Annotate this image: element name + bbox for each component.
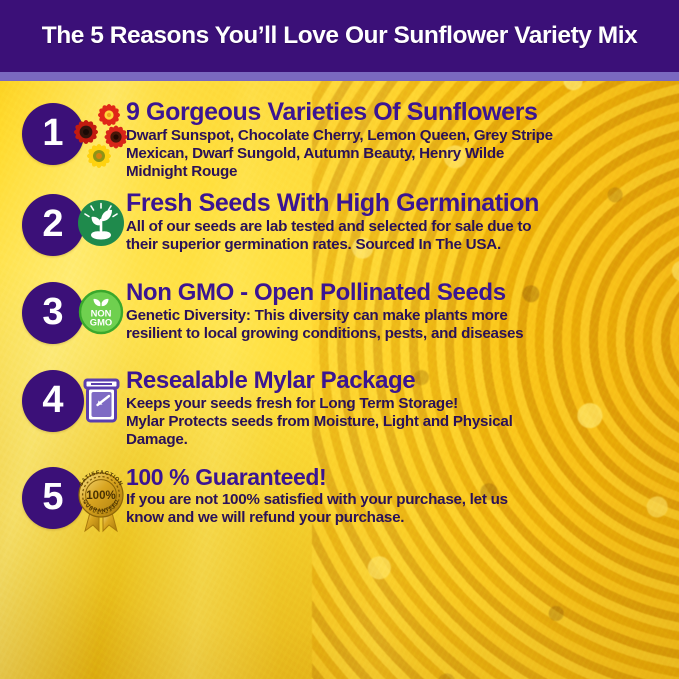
reason-3-badge-group: 3 NON GMO [14,276,126,354]
reason-1-text: 9 Gorgeous Varieties Of Sunflowers Dwarf… [126,97,669,181]
reason-3-body: Genetic Diversity: This diversity can ma… [126,307,669,343]
reason-3-heading: Non GMO - Open Pollinated Seeds [126,280,669,305]
reason-1-body: Dwarf Sunspot, Chocolate Cherry, Lemon Q… [126,127,669,182]
header-accent-stripe [0,72,679,81]
reason-5-body: If you are not 100% satisfied with your … [126,491,669,527]
reason-5-text: 100 % Guaranteed! If you are not 100% sa… [126,461,669,527]
page-title: The 5 Reasons You’ll Love Our Sunflower … [42,22,638,50]
reason-4-badge-group: 4 [14,364,126,442]
reason-2-heading: Fresh Seeds With High Germination [126,190,669,217]
reason-4-body-line-1: Keeps your seeds fresh for Long Term Sto… [126,395,669,413]
reason-4-heading: Resealable Mylar Package [126,368,669,393]
reason-4-text: Resealable Mylar Package Keeps your seed… [126,364,669,449]
reason-item-2: 2 [14,188,669,266]
reason-4-body-line-3: Damage. [126,431,669,449]
reason-2-number: 2 [42,205,63,243]
header-bar: The 5 Reasons You’ll Love Our Sunflower … [0,0,679,72]
reason-1-badge-group: 1 [14,97,126,175]
sunflower-cluster-icon [69,99,135,171]
reason-1-heading: 9 Gorgeous Varieties Of Sunflowers [126,99,669,126]
reason-5-number: 5 [42,478,63,516]
mylar-pouch-icon [69,366,135,438]
reason-1-body-line-1: Dwarf Sunspot, Chocolate Cherry, Lemon Q… [126,127,669,145]
reason-3-number: 3 [42,293,63,331]
reason-2-body-line-1: All of our seeds are lab tested and sele… [126,218,669,236]
reason-4-number: 4 [42,381,63,419]
reason-5-heading: 100 % Guaranteed! [126,465,669,489]
reason-5-badge-group: 5 [14,461,126,539]
non-gmo-badge-icon: NON GMO [69,278,135,350]
reason-1-body-line-3: Midnight Rouge [126,163,669,181]
reason-item-4: 4 Resealable Mylar Package Keeps [14,364,669,449]
non-gmo-text-bottom: GMO [90,317,112,328]
reason-4-body-line-2: Mylar Protects seeds from Moisture, Ligh… [126,413,669,431]
satisfaction-guarantee-seal-icon: SATISFACTION GUARANTEED 100% [69,463,135,535]
reason-item-1: 1 [14,97,669,181]
reasons-list: 1 [0,81,679,679]
reason-1-body-line-2: Mexican, Dwarf Sungold, Autumn Beauty, H… [126,145,669,163]
seal-text-center: 100% [86,490,115,502]
reason-2-body: All of our seeds are lab tested and sele… [126,218,669,254]
reason-2-body-line-2: their superior germination rates. Source… [126,236,669,254]
reason-1-number: 1 [42,114,63,152]
reason-2-text: Fresh Seeds With High Germination All of… [126,188,669,254]
reason-3-body-line-2: resilient to local growing conditions, p… [126,325,669,343]
reason-3-body-line-1: Genetic Diversity: This diversity can ma… [126,307,669,325]
reason-3-text: Non GMO - Open Pollinated Seeds Genetic … [126,276,669,343]
reason-2-badge-group: 2 [14,188,126,266]
reason-5-body-line-1: If you are not 100% satisfied with your … [126,491,669,509]
reason-5-body-line-2: know and we will refund your purchase. [126,509,669,527]
reason-item-3: 3 NON GMO Non GMO - Open Pollinated Seed… [14,276,669,354]
seedling-sprout-icon [69,190,135,262]
reason-item-5: 5 [14,461,669,539]
reason-4-body: Keeps your seeds fresh for Long Term Sto… [126,395,669,450]
infographic-poster: The 5 Reasons You’ll Love Our Sunflower … [0,0,679,679]
